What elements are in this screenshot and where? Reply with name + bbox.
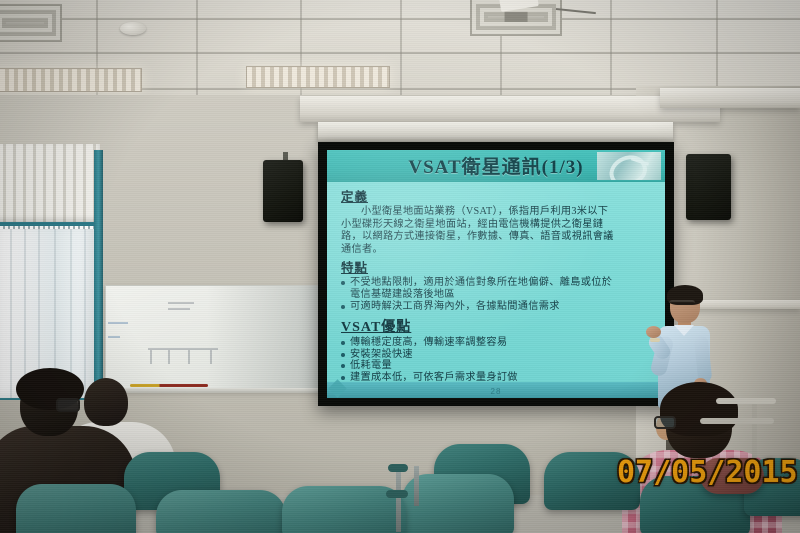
slide-section-heading-advantages: VSAT優點 — [341, 316, 657, 336]
ceiling-light-panel — [246, 66, 390, 88]
slide-bullet-text-cont: 電信基礎建設落後地區 — [350, 289, 657, 301]
slide-bullet: 不受地點限制，適用於通信對象所在地偏僻、離島或位於 電信基礎建設落後地區 — [341, 277, 657, 301]
chair-armrest — [388, 464, 408, 472]
projection-screen-housing — [318, 122, 673, 142]
slide-paragraph: 通信者。 — [341, 244, 657, 256]
wall-speaker-left — [263, 160, 303, 222]
slide-bullet-text: 不受地點限制，適用於通信對象所在地偏僻、離島或位於 — [350, 277, 612, 288]
ceiling-air-vent-left — [0, 4, 62, 42]
camera-date-stamp: 07/05/2015 — [617, 455, 798, 490]
window-blinds[interactable] — [0, 144, 100, 226]
ceiling-soffit-right — [660, 88, 800, 108]
window-mullion — [94, 150, 103, 400]
slide-bullet-text: 可適時解決工商界海內外，各據點間通信需求 — [350, 301, 560, 312]
ceiling-soffit — [300, 96, 720, 122]
ceiling-light-panel — [0, 68, 142, 92]
slide-paragraph: 小型衛星地面站業務（VSAT），係指用戶利用3米以下 — [341, 206, 657, 218]
chair-leg — [414, 466, 419, 506]
slide-title: VSAT衛星通訊(1/3) — [327, 152, 665, 179]
smoke-detector-icon — [120, 22, 146, 35]
slide-bullet-text: 傳輸穩定度高，傳輸速率調整容易 — [350, 337, 507, 348]
chair[interactable] — [16, 484, 136, 533]
slide-bullet: 傳輸穩定度高，傳輸速率調整容易 — [341, 337, 657, 349]
chair-leg — [396, 470, 401, 532]
slide-section-heading-definition: 定義 — [341, 186, 657, 205]
slide-bullet-text: 安裝架設快速 — [350, 349, 413, 360]
presentation-slide: VSAT衛星通訊(1/3) 定義 小型衛星地面站業務（VSAT），係指用戶利用3… — [327, 150, 665, 398]
audience-glasses — [56, 398, 80, 412]
wall-speaker-right — [686, 154, 731, 220]
presenter-glasses — [669, 300, 695, 308]
chair[interactable] — [156, 490, 286, 533]
classroom-photograph: VSAT衛星通訊(1/3) 定義 小型衛星地面站業務（VSAT），係指用戶利用3… — [0, 0, 800, 533]
slide-bullet-text: 低耗電量 — [350, 360, 392, 371]
chair-armrest — [700, 418, 774, 424]
presenter-hand — [646, 326, 661, 338]
slide-bullet: 安裝架設快速 — [341, 349, 657, 361]
slide-body: 定義 小型衛星地面站業務（VSAT），係指用戶利用3米以下 小型碟形天線之衛星地… — [341, 186, 657, 384]
chair-leg — [752, 400, 757, 458]
chair-armrest — [716, 398, 776, 404]
slide-section-heading-features: 特點 — [341, 257, 657, 276]
audience-glasses — [654, 416, 676, 429]
slide-bullet: 低耗電量 — [341, 360, 657, 372]
slide-paragraph: 路，以網路方式連接衛星，作數據、傳真、語音或視訊會議 — [341, 231, 657, 243]
slide-page-number: 28 — [327, 387, 665, 396]
chair-armrest — [386, 490, 408, 498]
slide-paragraph: 小型碟形天線之衛星地面站，經由電信機構提供之衛星鏈 — [341, 219, 657, 231]
slide-bullet: 可適時解決工商界海內外，各據點間通信需求 — [341, 301, 657, 313]
